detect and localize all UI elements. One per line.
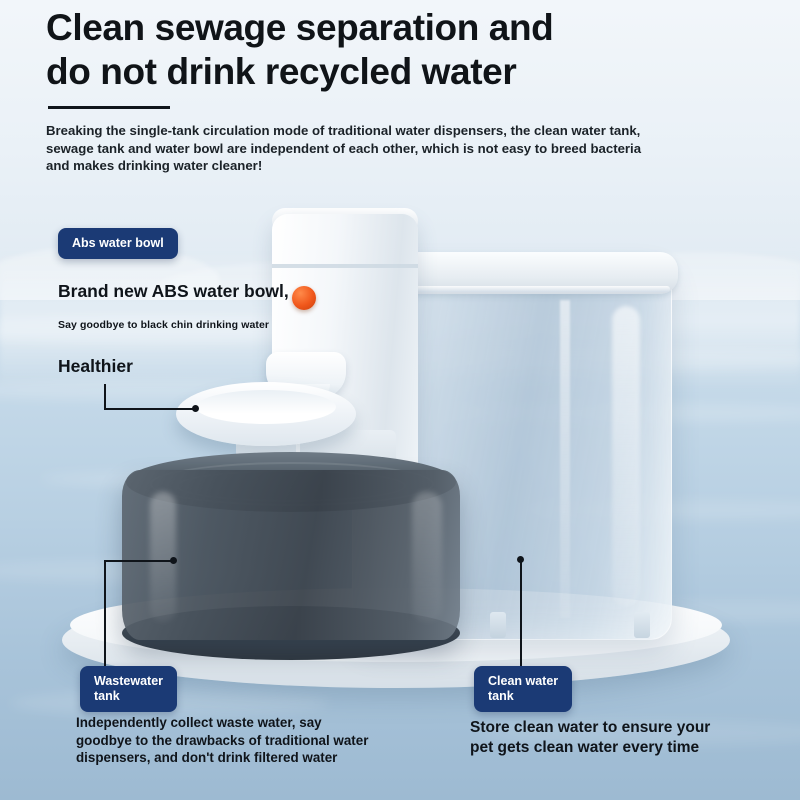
leader-line-wastewater [104,562,106,666]
page-title-line-2: do not drink recycled water [46,50,766,94]
abs-callout-line-1: Brand new ABS water bowl, [58,280,289,302]
leader-line-wastewater [104,560,174,562]
abs-callout-line-2: Say goodbye to black chin drinking water [58,318,269,332]
page-subtitle: Breaking the single-tank circulation mod… [46,122,666,175]
badge-wastewater-tank: Wastewater tank [80,666,177,712]
badge-abs-water-bowl: Abs water bowl [58,228,178,259]
power-button[interactable] [292,286,316,310]
leader-dot-abs [192,405,199,412]
abs-callout-line-3: Healthier [58,355,133,377]
tank-foot [634,612,650,638]
wastewater-callout-description: Independently collect waste water, say g… [76,714,376,767]
tank-foot [490,612,506,638]
clean-callout-description: Store clean water to ensure your pet get… [470,718,730,758]
page-title-line-1: Clean sewage separation and [46,6,766,50]
leader-line-abs [104,384,106,410]
badge-clean-water-tank: Clean water tank [474,666,572,712]
abs-water-bowl-inner [196,390,336,424]
leader-dot-wastewater [170,557,177,564]
product-infographic: Clean sewage separation and do not drink… [0,0,800,800]
dispenser-column-seam [272,264,418,268]
wastewater-tank-highlight [412,492,442,622]
leader-line-abs [104,408,196,410]
clean-water-tank-edge [560,300,570,618]
leader-line-clean [520,562,522,666]
clean-water-tank-highlight [612,306,640,606]
leader-dot-clean [517,556,524,563]
page-title: Clean sewage separation and do not drink… [46,6,766,94]
title-underline [48,106,170,109]
